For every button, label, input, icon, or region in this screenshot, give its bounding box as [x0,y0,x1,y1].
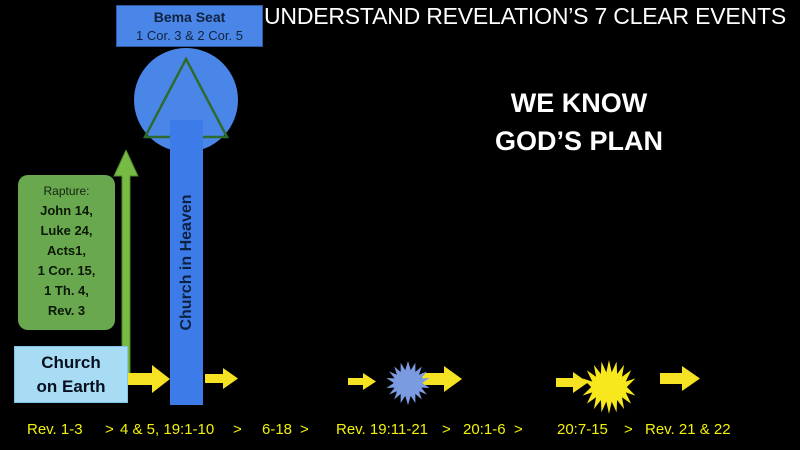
timeline-separator: > [624,417,633,443]
rapture-up-arrow-icon [112,150,140,375]
church-on-earth-line2: on Earth [15,375,127,399]
timeline-segment: 4 & 5, 19:1-10 [120,417,214,443]
timeline-segment: Rev. 1-3 [27,417,83,443]
page-title: UNDERSTAND REVELATION’S 7 CLEAR EVENTS [258,2,792,30]
timeline-segment: 20:1-6 [463,417,506,443]
rapture-ref-rev: Rev. 3 [18,301,115,321]
bema-seat-references: 1 Cor. 3 & 2 Cor. 5 [117,27,262,45]
right-arrow-icon [660,366,700,391]
church-on-earth-box: Church on Earth [14,346,128,403]
bema-seat-label-box: Bema Seat 1 Cor. 3 & 2 Cor. 5 [116,5,263,47]
headline-line-2: GOD’S PLAN [434,122,724,160]
timeline-separator: > [514,417,523,443]
timeline-caption: Rev. 1-3 > 4 & 5, 19:1-10 > 6-18 > Rev. … [0,417,800,443]
church-on-earth-line1: Church [15,351,127,375]
timeline-separator: > [105,417,114,443]
revelation-timeline-slide: UNDERSTAND REVELATION’S 7 CLEAR EVENTS B… [0,0,800,450]
rapture-ref-1th: 1 Th. 4, [18,281,115,301]
timeline-segment: Rev. 19:11-21 [336,417,428,443]
rapture-ref-1cor: 1 Cor. 15, [18,261,115,281]
timeline-separator: > [442,417,451,443]
yellow-starburst-icon [578,360,640,414]
right-arrow-icon [128,365,170,393]
rapture-ref-luke: Luke 24, [18,221,115,241]
church-in-heaven-label: Church in Heaven [170,120,203,405]
timeline-separator: > [233,417,242,443]
right-arrow-icon [205,368,238,389]
rapture-heading: Rapture: [18,181,115,201]
rapture-ref-john: John 14, [18,201,115,221]
bema-seat-title: Bema Seat [117,8,262,27]
timeline-segment: Rev. 21 & 22 [645,417,731,443]
timeline-segment: 6-18 [262,417,292,443]
headline-block: WE KNOW GOD’S PLAN [434,84,724,160]
headline-line-1: WE KNOW [434,84,724,122]
timeline-separator: > [300,417,309,443]
rapture-ref-acts: Acts1, [18,241,115,261]
right-arrow-icon [348,373,376,390]
rapture-reference-box: Rapture: John 14, Luke 24, Acts1, 1 Cor.… [18,175,115,330]
blue-starburst-icon [380,360,436,406]
timeline-segment: 20:7-15 [557,417,608,443]
